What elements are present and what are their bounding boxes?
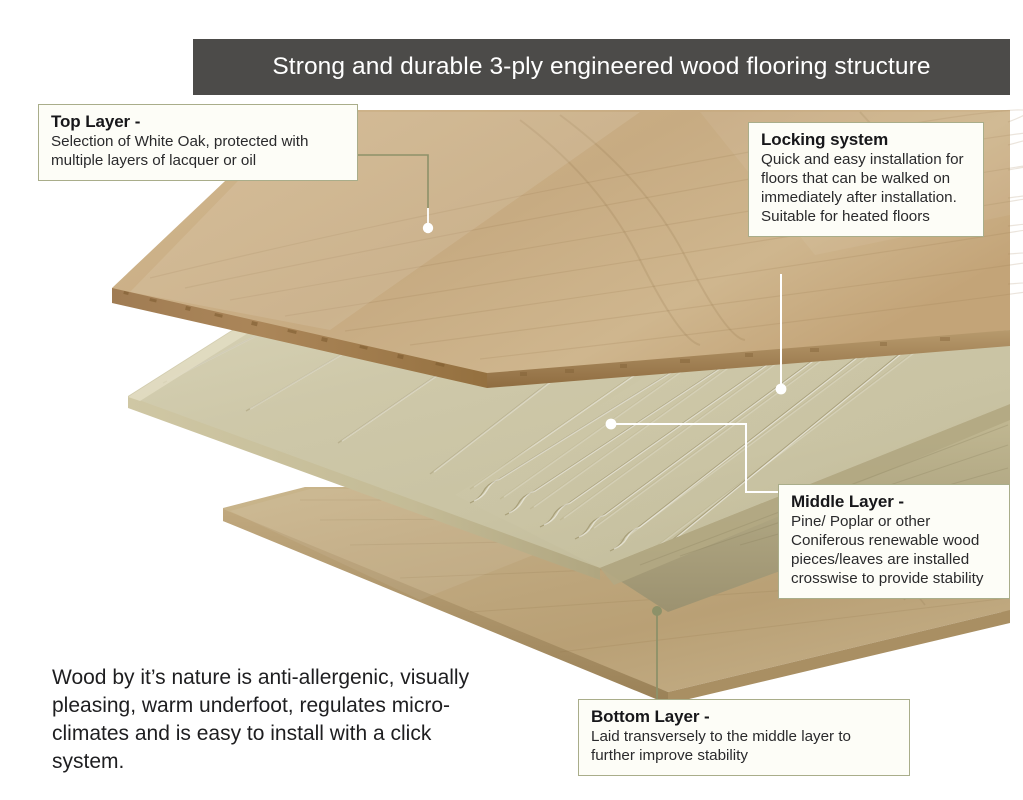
page-title-text: Strong and durable 3-ply engineered wood…	[272, 53, 930, 81]
callout-locking-system: Locking system Quick and easy installati…	[748, 122, 984, 237]
callout-locking-system-body: Quick and easy installation for floors t…	[761, 151, 973, 226]
intro-paragraph: Wood by it’s nature is anti-allergenic, …	[52, 664, 472, 776]
callout-bottom-layer: Bottom Layer - Laid transversely to the …	[578, 699, 910, 776]
callout-top-layer-heading: Top Layer -	[51, 112, 347, 132]
callout-top-layer-body: Selection of White Oak, protected with m…	[51, 133, 347, 171]
callout-middle-layer: Middle Layer - Pine/ Poplar or other Con…	[778, 484, 1010, 599]
callout-bottom-layer-body: Laid transversely to the middle layer to…	[591, 728, 899, 766]
callout-locking-system-heading: Locking system	[761, 130, 973, 150]
callout-middle-layer-body: Pine/ Poplar or other Coniferous renewab…	[791, 513, 999, 588]
callout-top-layer: Top Layer - Selection of White Oak, prot…	[38, 104, 358, 181]
callout-bottom-layer-heading: Bottom Layer -	[591, 707, 899, 727]
callout-middle-layer-heading: Middle Layer -	[791, 492, 999, 512]
infographic-canvas: Strong and durable 3-ply engineered wood…	[0, 0, 1023, 800]
page-title: Strong and durable 3-ply engineered wood…	[193, 39, 1010, 95]
